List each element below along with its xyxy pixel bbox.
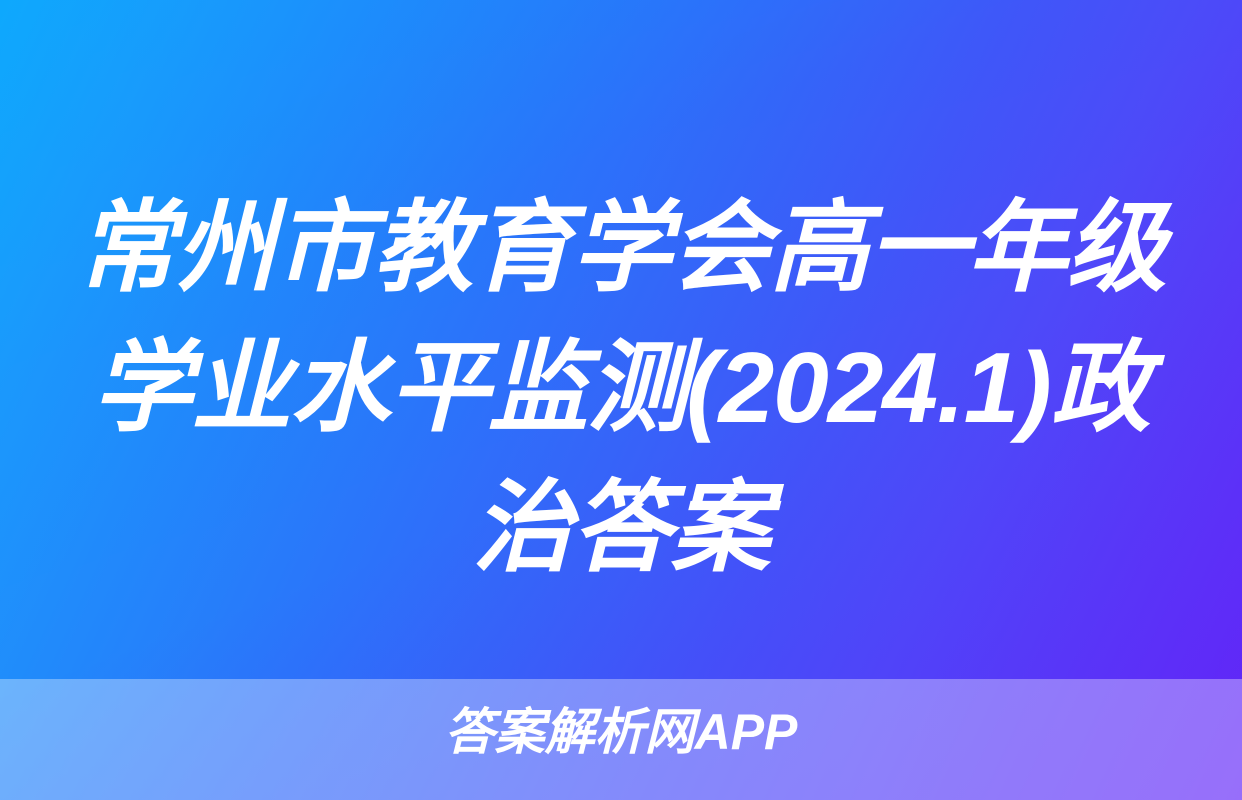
page-title: 常州市教育学会高一年级 学业水平监测(2024.1)政 治答案	[0, 178, 1242, 598]
watermark-label: 答案解析网APP	[0, 702, 1242, 762]
exam-thumbnail-card: 常州市教育学会高一年级 学业水平监测(2024.1)政 治答案 答案解析网APP	[0, 0, 1242, 800]
title-line-1: 常州市教育学会高一年级	[10, 178, 1232, 318]
title-line-3: 治答案	[10, 458, 1232, 598]
title-line-2: 学业水平监测(2024.1)政	[10, 318, 1232, 458]
